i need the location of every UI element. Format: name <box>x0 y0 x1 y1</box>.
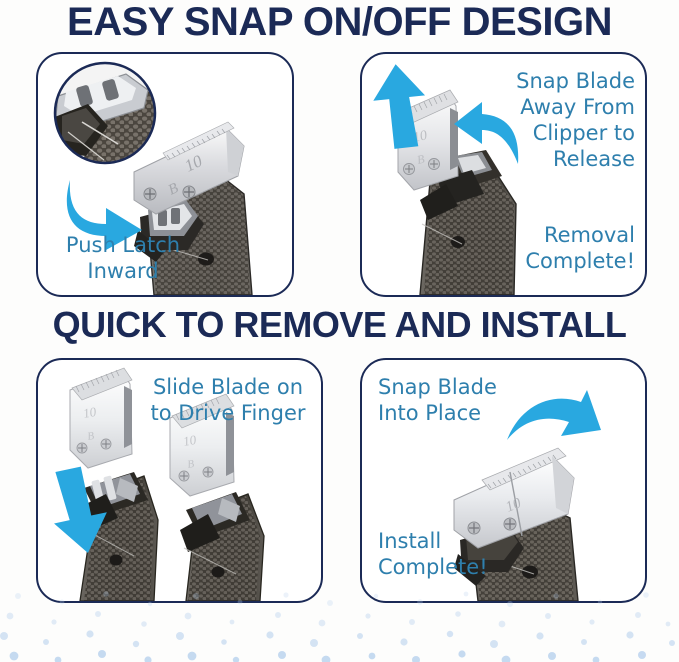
page-title-top: EASY SNAP ON/OFF DESIGN <box>0 0 679 44</box>
step-panel-push-latch: 10 B <box>36 52 294 297</box>
straight-arrow-down-icon <box>48 468 110 554</box>
detached-blade-3: 10 B <box>70 368 132 468</box>
caption-snap-blade-away: Snap Blade Away From Clipper to Release <box>465 68 635 172</box>
latch-closeup-inset <box>52 60 158 166</box>
straight-arrow-up-icon <box>370 64 430 148</box>
step-panel-slide-blade-on: 10 B <box>36 358 323 603</box>
caption-install-complete: Install Complete! <box>378 528 548 580</box>
clipper-right-3 <box>178 490 278 603</box>
caption-slide-blade: Slide Blade on to Drive Finger <box>138 374 318 426</box>
infographic-root: EASY SNAP ON/OFF DESIGN <box>0 0 679 662</box>
caption-removal-complete: Removal Complete! <box>465 222 635 274</box>
caption-push-latch: Push Latch Inward <box>38 232 208 284</box>
step-panel-snap-blade-in: 10 Snap Blade Into Place Install Complet… <box>360 358 647 603</box>
step-panel-snap-blade-away: 10 B Snap Blade Away From Clipper to Rel… <box>360 52 647 297</box>
page-title-middle: QUICK TO REMOVE AND INSTALL <box>0 305 679 345</box>
caption-snap-blade-in: Snap Blade Into Place <box>378 374 548 426</box>
